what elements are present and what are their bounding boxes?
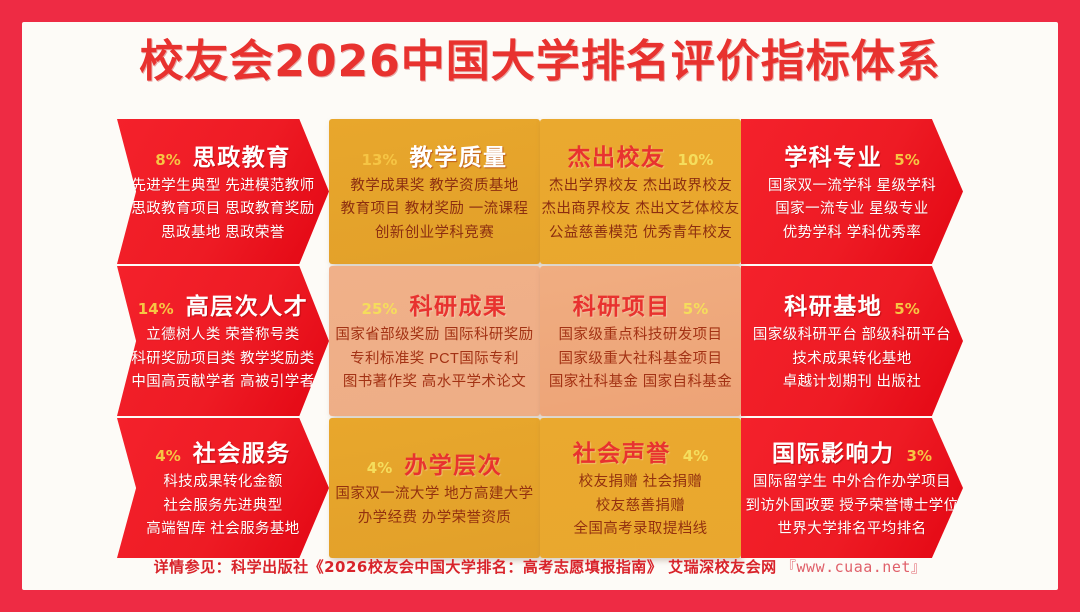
indicator-card[interactable]: 杰出校友10%杰出学界校友 杰出政界校友杰出商界校友 杰出文艺体校友公益慈善模范… [540, 119, 741, 264]
card-item: 世界大学排名平均排名 [778, 520, 927, 540]
card-item-list: 立德树人类 荣誉称号类科研奖励项目类 教学奖励类中国高贡献学者 高被引学者 [131, 326, 314, 393]
card-weight-percent: 5% [683, 300, 708, 318]
card-title: 教学质量 [409, 138, 507, 172]
card-item-list: 国家省部级奖励 国际科研奖励专利标准奖 PCT国际专利图书著作奖 高水平学术论文 [335, 326, 533, 393]
card-item: 立德树人类 荣誉称号类 [146, 326, 299, 346]
indicator-card[interactable]: 国际影响力3%国际留学生 中外合作办学项目到访外国政要 授予荣誉博士学位世界大学… [741, 418, 963, 558]
card-weight-percent: 5% [894, 151, 919, 169]
card-item-list: 教学成果奖 教学资质基地教育项目 教材奖励 一流课程创新创业学科竞赛 [341, 177, 529, 244]
card-header: 社会声誉4% [573, 434, 708, 468]
card-item: 创新创业学科竞赛 [375, 224, 494, 244]
card-item: 国家社科基金 国家自科基金 [549, 373, 732, 393]
card-item: 教育项目 教材奖励 一流课程 [341, 200, 529, 220]
card-weight-percent: 5% [894, 300, 919, 318]
card-item: 科技成果转化金额 [163, 473, 282, 493]
card-weight-percent: 4% [155, 447, 180, 465]
card-title: 科研成果 [409, 287, 507, 321]
card-weight-percent: 8% [155, 151, 180, 169]
card-weight-percent: 4% [683, 447, 708, 465]
indicator-grid: 思政教育8%先进学生典型 先进模范教师思政教育项目 思政教育奖励思政基地 思政荣… [28, 119, 1052, 558]
card-item: 社会服务先进典型 [163, 497, 282, 517]
card-item: 杰出商界校友 杰出文艺体校友 [541, 200, 739, 220]
indicator-card[interactable]: 学科专业5%国家双一流学科 星级学科国家一流专业 星级专业优势学科 学科优秀率 [741, 119, 963, 264]
page-title: 校友会2026中国大学排名评价指标体系 [139, 38, 940, 86]
card-item: 思政基地 思政荣誉 [161, 224, 285, 244]
card-item: 校友捐赠 社会捐赠 [579, 473, 703, 493]
card-item: 到访外国政要 授予荣誉博士学位 [745, 497, 958, 517]
card-title: 社会声誉 [573, 434, 671, 468]
card-weight-percent: 13% [362, 151, 398, 169]
card-weight-percent: 10% [678, 151, 714, 169]
card-title: 国际影响力 [772, 434, 895, 468]
card-header: 科研成果25% [362, 287, 508, 321]
card-weight-percent: 3% [907, 447, 932, 465]
card-item: 国家双一流大学 地方高建大学 [335, 485, 533, 505]
indicator-card[interactable]: 社会服务4%科技成果转化金额社会服务先进典型高端智库 社会服务基地 [117, 418, 329, 558]
card-item: 全国高考录取提档线 [573, 520, 707, 540]
indicator-card[interactable]: 教学质量13%教学成果奖 教学资质基地教育项目 教材奖励 一流课程创新创业学科竞… [329, 119, 540, 264]
card-item-list: 校友捐赠 社会捐赠校友慈善捐赠全国高考录取提档线 [573, 473, 707, 540]
indicator-card[interactable]: 办学层次4%国家双一流大学 地方高建大学办学经费 办学荣誉资质 [329, 418, 540, 558]
indicator-card[interactable]: 科研基地5%国家级科研平台 部级科研平台技术成果转化基地卓越计划期刊 出版社 [741, 266, 963, 416]
card-item: 公益慈善模范 优秀青年校友 [549, 224, 732, 244]
card-title: 思政教育 [193, 138, 291, 172]
card-item-list: 国家双一流大学 地方高建大学办学经费 办学荣誉资质 [335, 485, 533, 528]
footer: 详情参见：科学出版社《2026校友会中国大学排名：高考志愿填报指南》 艾瑞深校友… [22, 556, 1058, 577]
card-item: 国家一流专业 星级专业 [775, 200, 928, 220]
card-header: 杰出校友10% [568, 138, 714, 172]
card-header: 办学层次4% [367, 446, 502, 480]
card-title: 学科专业 [784, 138, 882, 172]
card-title: 办学层次 [404, 446, 502, 480]
card-item: 国际留学生 中外合作办学项目 [753, 473, 951, 493]
card-item: 中国高贡献学者 高被引学者 [131, 373, 314, 393]
card-item-list: 国家双一流学科 星级学科国家一流专业 星级专业优势学科 学科优秀率 [768, 177, 936, 244]
card-item-list: 杰出学界校友 杰出政界校友杰出商界校友 杰出文艺体校友公益慈善模范 优秀青年校友 [541, 177, 739, 244]
card-item: 杰出学界校友 杰出政界校友 [549, 177, 732, 197]
card-item: 高端智库 社会服务基地 [146, 520, 299, 540]
card-weight-percent: 25% [362, 300, 398, 318]
content-panel: 校友会2026中国大学排名评价指标体系 思政教育8%先进学生典型 先进模范教师思… [22, 22, 1058, 590]
card-item: 国家级重点科技研发项目 [559, 326, 723, 346]
card-item-list: 国际留学生 中外合作办学项目到访外国政要 授予荣誉博士学位世界大学排名平均排名 [745, 473, 958, 540]
card-item-list: 科技成果转化金额社会服务先进典型高端智库 社会服务基地 [146, 473, 299, 540]
red-frame-border: 校友会2026中国大学排名评价指标体系 思政教育8%先进学生典型 先进模范教师思… [0, 0, 1080, 612]
card-header: 国际影响力3% [772, 434, 932, 468]
card-header: 高层次人才14% [138, 287, 308, 321]
card-item: 卓越计划期刊 出版社 [783, 373, 922, 393]
card-header: 科研项目5% [573, 287, 708, 321]
title-container: 校友会2026中国大学排名评价指标体系 [22, 38, 1058, 86]
card-header: 教学质量13% [362, 138, 508, 172]
card-title: 高层次人才 [186, 287, 309, 321]
card-item: 国家级重大社科基金项目 [559, 350, 723, 370]
card-title: 杰出校友 [568, 138, 666, 172]
footer-source-text: 详情参见：科学出版社《2026校友会中国大学排名：高考志愿填报指南》 艾瑞深校友… [154, 558, 777, 576]
card-item: 思政教育项目 思政教育奖励 [131, 200, 314, 220]
indicator-card[interactable]: 高层次人才14%立德树人类 荣誉称号类科研奖励项目类 教学奖励类中国高贡献学者 … [117, 266, 329, 416]
card-item: 科研奖励项目类 教学奖励类 [131, 350, 314, 370]
card-title: 社会服务 [193, 434, 291, 468]
card-item-list: 国家级重点科技研发项目国家级重大社科基金项目国家社科基金 国家自科基金 [549, 326, 732, 393]
footer-website-url[interactable]: 『www.cuaa.net』 [781, 558, 926, 576]
card-item: 技术成果转化基地 [792, 350, 911, 370]
card-item-list: 先进学生典型 先进模范教师思政教育项目 思政教育奖励思政基地 思政荣誉 [131, 177, 314, 244]
card-item: 图书著作奖 高水平学术论文 [343, 373, 526, 393]
card-item: 优势学科 学科优秀率 [783, 224, 922, 244]
card-header: 社会服务4% [155, 434, 290, 468]
card-item-list: 国家级科研平台 部级科研平台技术成果转化基地卓越计划期刊 出版社 [753, 326, 951, 393]
card-item: 办学经费 办学荣誉资质 [358, 509, 511, 529]
card-item: 国家省部级奖励 国际科研奖励 [335, 326, 533, 346]
card-item: 教学成果奖 教学资质基地 [350, 177, 518, 197]
card-title: 科研基地 [784, 287, 882, 321]
indicator-card[interactable]: 思政教育8%先进学生典型 先进模范教师思政教育项目 思政教育奖励思政基地 思政荣… [117, 119, 329, 264]
card-item: 专利标准奖 PCT国际专利 [350, 350, 519, 370]
card-header: 学科专业5% [784, 138, 919, 172]
card-item: 校友慈善捐赠 [596, 497, 685, 517]
card-title: 科研项目 [573, 287, 671, 321]
card-header: 思政教育8% [155, 138, 290, 172]
card-weight-percent: 14% [138, 300, 174, 318]
indicator-card[interactable]: 科研项目5%国家级重点科技研发项目国家级重大社科基金项目国家社科基金 国家自科基… [540, 266, 741, 416]
card-item: 国家级科研平台 部级科研平台 [753, 326, 951, 346]
indicator-card[interactable]: 社会声誉4%校友捐赠 社会捐赠校友慈善捐赠全国高考录取提档线 [540, 418, 741, 558]
card-header: 科研基地5% [784, 287, 919, 321]
card-item: 国家双一流学科 星级学科 [768, 177, 936, 197]
card-weight-percent: 4% [367, 459, 392, 477]
card-item: 先进学生典型 先进模范教师 [131, 177, 314, 197]
indicator-card[interactable]: 科研成果25%国家省部级奖励 国际科研奖励专利标准奖 PCT国际专利图书著作奖 … [329, 266, 540, 416]
